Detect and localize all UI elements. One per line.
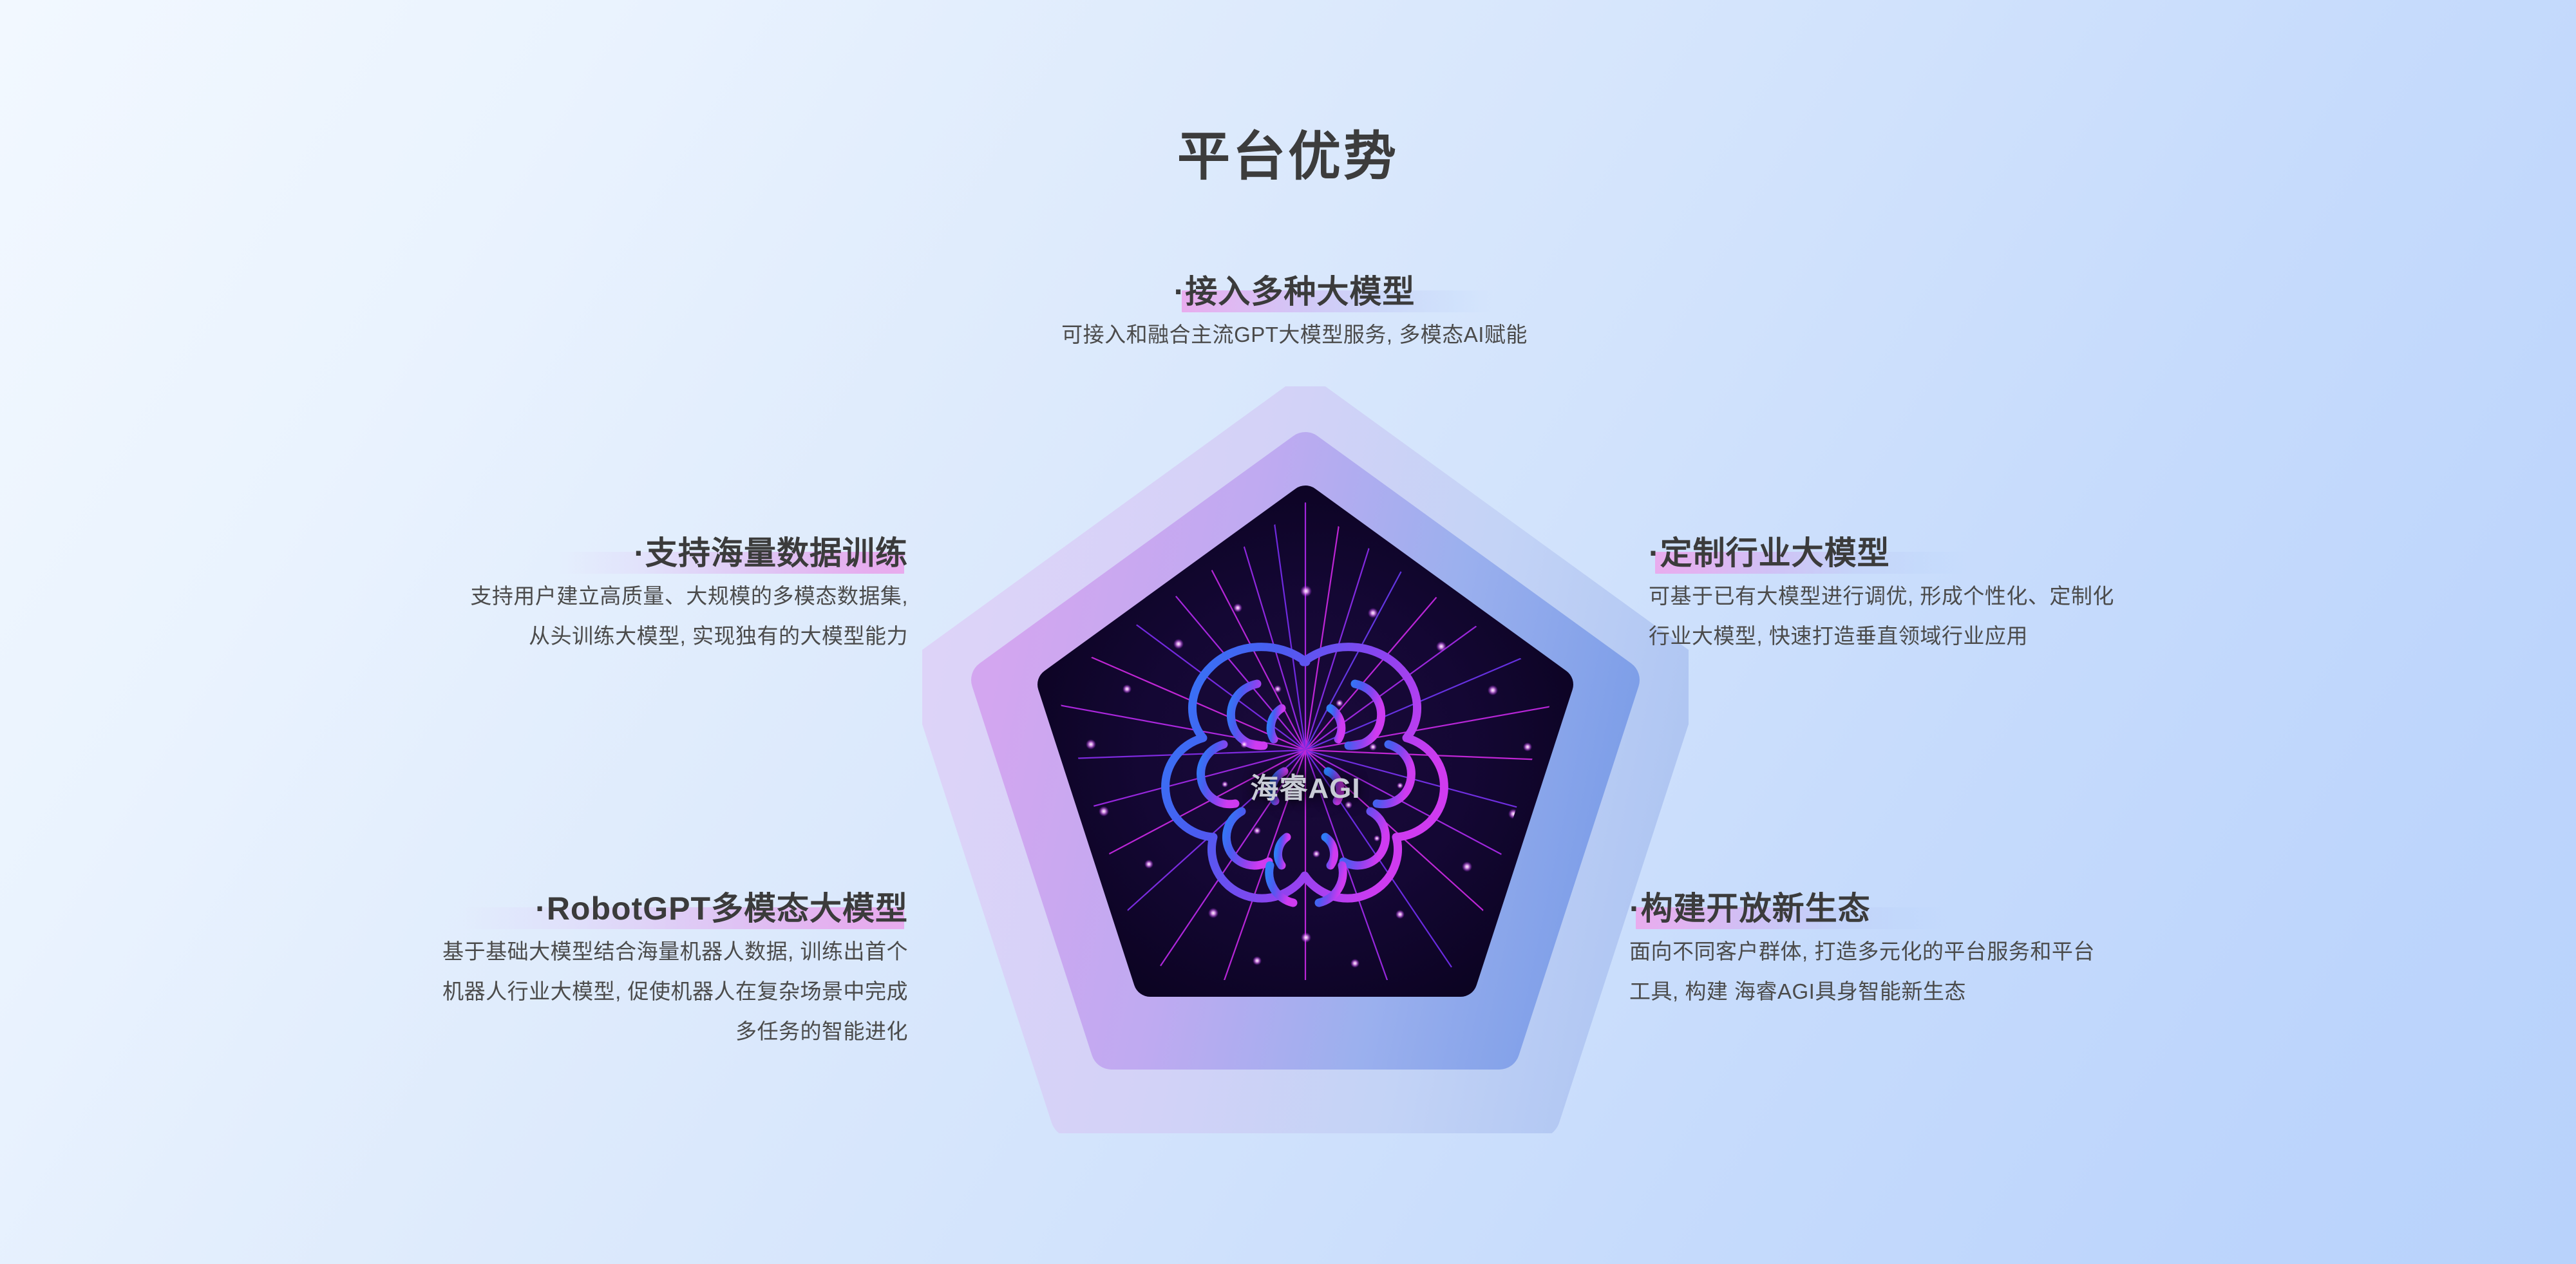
feature-heading: ·构建开放新生态 [1629, 889, 1871, 932]
feature-description: 可接入和融合主流GPT大模型服务, 多模态AI赋能 [773, 315, 1816, 355]
desc-line: 多任务的智能进化 [103, 1012, 908, 1052]
desc-line: 基于基础大模型结合海量机器人数据, 训练出首个 [103, 932, 908, 972]
desc-line: 支持用户建立高质量、大规模的多模态数据集, [103, 576, 908, 616]
feature-heading: ·RobotGPT多模态大模型 [535, 889, 908, 932]
feature-description: 基于基础大模型结合海量机器人数据, 训练出首个 机器人行业大模型, 促使机器人在… [103, 932, 908, 1052]
heading-text: 支持海量数据训练 [645, 535, 908, 571]
heading-text: 接入多种大模型 [1185, 274, 1415, 310]
feature-description: 可基于已有大模型进行调优, 形成个性化、定制化 行业大模型, 快速打造垂直领域行… [1649, 576, 2479, 656]
slide-canvas: 平台优势 [0, 0, 2576, 1264]
feature-open-ecosystem: ·构建开放新生态 面向不同客户群体, 打造多元化的平台服务和平台 工具, 构建 … [1629, 889, 2460, 1012]
desc-line: 可基于已有大模型进行调优, 形成个性化、定制化 [1649, 576, 2479, 616]
desc-line: 行业大模型, 快速打造垂直领域行业应用 [1649, 616, 2479, 656]
bullet-marker: · [535, 891, 547, 927]
feature-heading: ·支持海量数据训练 [634, 533, 908, 576]
bullet-marker: · [1649, 535, 1660, 571]
bullet-marker: · [1629, 891, 1641, 927]
feature-massive-data-training: ·支持海量数据训练 支持用户建立高质量、大规模的多模态数据集, 从头训练大模型,… [103, 533, 908, 656]
feature-heading: ·接入多种大模型 [1174, 272, 1416, 315]
desc-line: 从头训练大模型, 实现独有的大模型能力 [103, 616, 908, 656]
pentagon-brain-illustration [922, 386, 1689, 1133]
bullet-marker: · [1174, 274, 1186, 310]
desc-line: 面向不同客户群体, 打造多元化的平台服务和平台 [1629, 932, 2460, 972]
heading-text: 构建开放新生态 [1641, 891, 1871, 927]
desc-line: 工具, 构建 海睿AGI具身智能新生态 [1629, 972, 2460, 1012]
feature-custom-industry-model: ·定制行业大模型 可基于已有大模型进行调优, 形成个性化、定制化 行业大模型, … [1649, 533, 2479, 656]
feature-heading: ·定制行业大模型 [1649, 533, 1890, 576]
center-graphic: 海睿AGI [922, 386, 1689, 1133]
bullet-marker: · [634, 535, 645, 571]
heading-text: RobotGPT多模态大模型 [547, 891, 908, 927]
page-title: 平台优势 [0, 113, 2576, 190]
feature-description: 面向不同客户群体, 打造多元化的平台服务和平台 工具, 构建 海睿AGI具身智能… [1629, 932, 2460, 1012]
feature-access-multiple-models: ·接入多种大模型 可接入和融合主流GPT大模型服务, 多模态AI赋能 [773, 272, 1816, 355]
desc-line: 机器人行业大模型, 促使机器人在复杂场景中完成 [103, 972, 908, 1012]
heading-text: 定制行业大模型 [1660, 535, 1890, 571]
desc-line: 可接入和融合主流GPT大模型服务, 多模态AI赋能 [773, 315, 1816, 355]
feature-description: 支持用户建立高质量、大规模的多模态数据集, 从头训练大模型, 实现独有的大模型能… [103, 576, 908, 656]
feature-robotgpt-multimodal-model: ·RobotGPT多模态大模型 基于基础大模型结合海量机器人数据, 训练出首个 … [103, 889, 908, 1052]
